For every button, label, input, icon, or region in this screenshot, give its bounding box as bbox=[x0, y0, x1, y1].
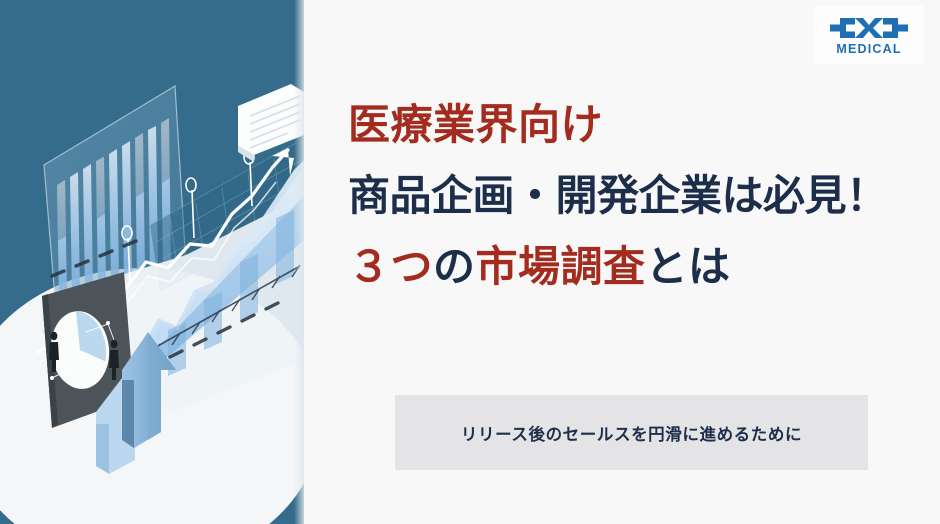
brand-logo: MEDICAL bbox=[814, 6, 924, 64]
headline-line-3-part-1: ３つ bbox=[348, 243, 433, 290]
isometric-illustration bbox=[0, 0, 304, 524]
headline-line-1: 医療業界向け bbox=[348, 104, 928, 146]
content-panel: MEDICAL 医療業界向け 商品企画・開発企業は必見！ ３つの市場調査とは リ… bbox=[304, 0, 940, 524]
headline-block: 医療業界向け 商品企画・開発企業は必見！ ３つの市場調査とは bbox=[348, 104, 928, 288]
headline-line-2: 商品企画・開発企業は必見！ bbox=[348, 175, 928, 217]
illustration-panel bbox=[0, 0, 304, 524]
exe-logo-icon bbox=[828, 15, 910, 41]
subtitle-text: リリース後のセールスを円滑に進めるために bbox=[461, 421, 802, 445]
headline-line-3: ３つの市場調査とは bbox=[348, 246, 928, 288]
logo-wordmark: MEDICAL bbox=[836, 43, 901, 56]
headline-line-3-part-2: の bbox=[433, 243, 476, 290]
headline-line-3-part-3: 市場調査 bbox=[476, 243, 646, 290]
slide-root: MEDICAL 医療業界向け 商品企画・開発企業は必見！ ３つの市場調査とは リ… bbox=[0, 0, 940, 524]
subtitle-banner: リリース後のセールスを円滑に進めるために bbox=[395, 395, 868, 470]
headline-line-3-part-4: とは bbox=[646, 243, 731, 290]
